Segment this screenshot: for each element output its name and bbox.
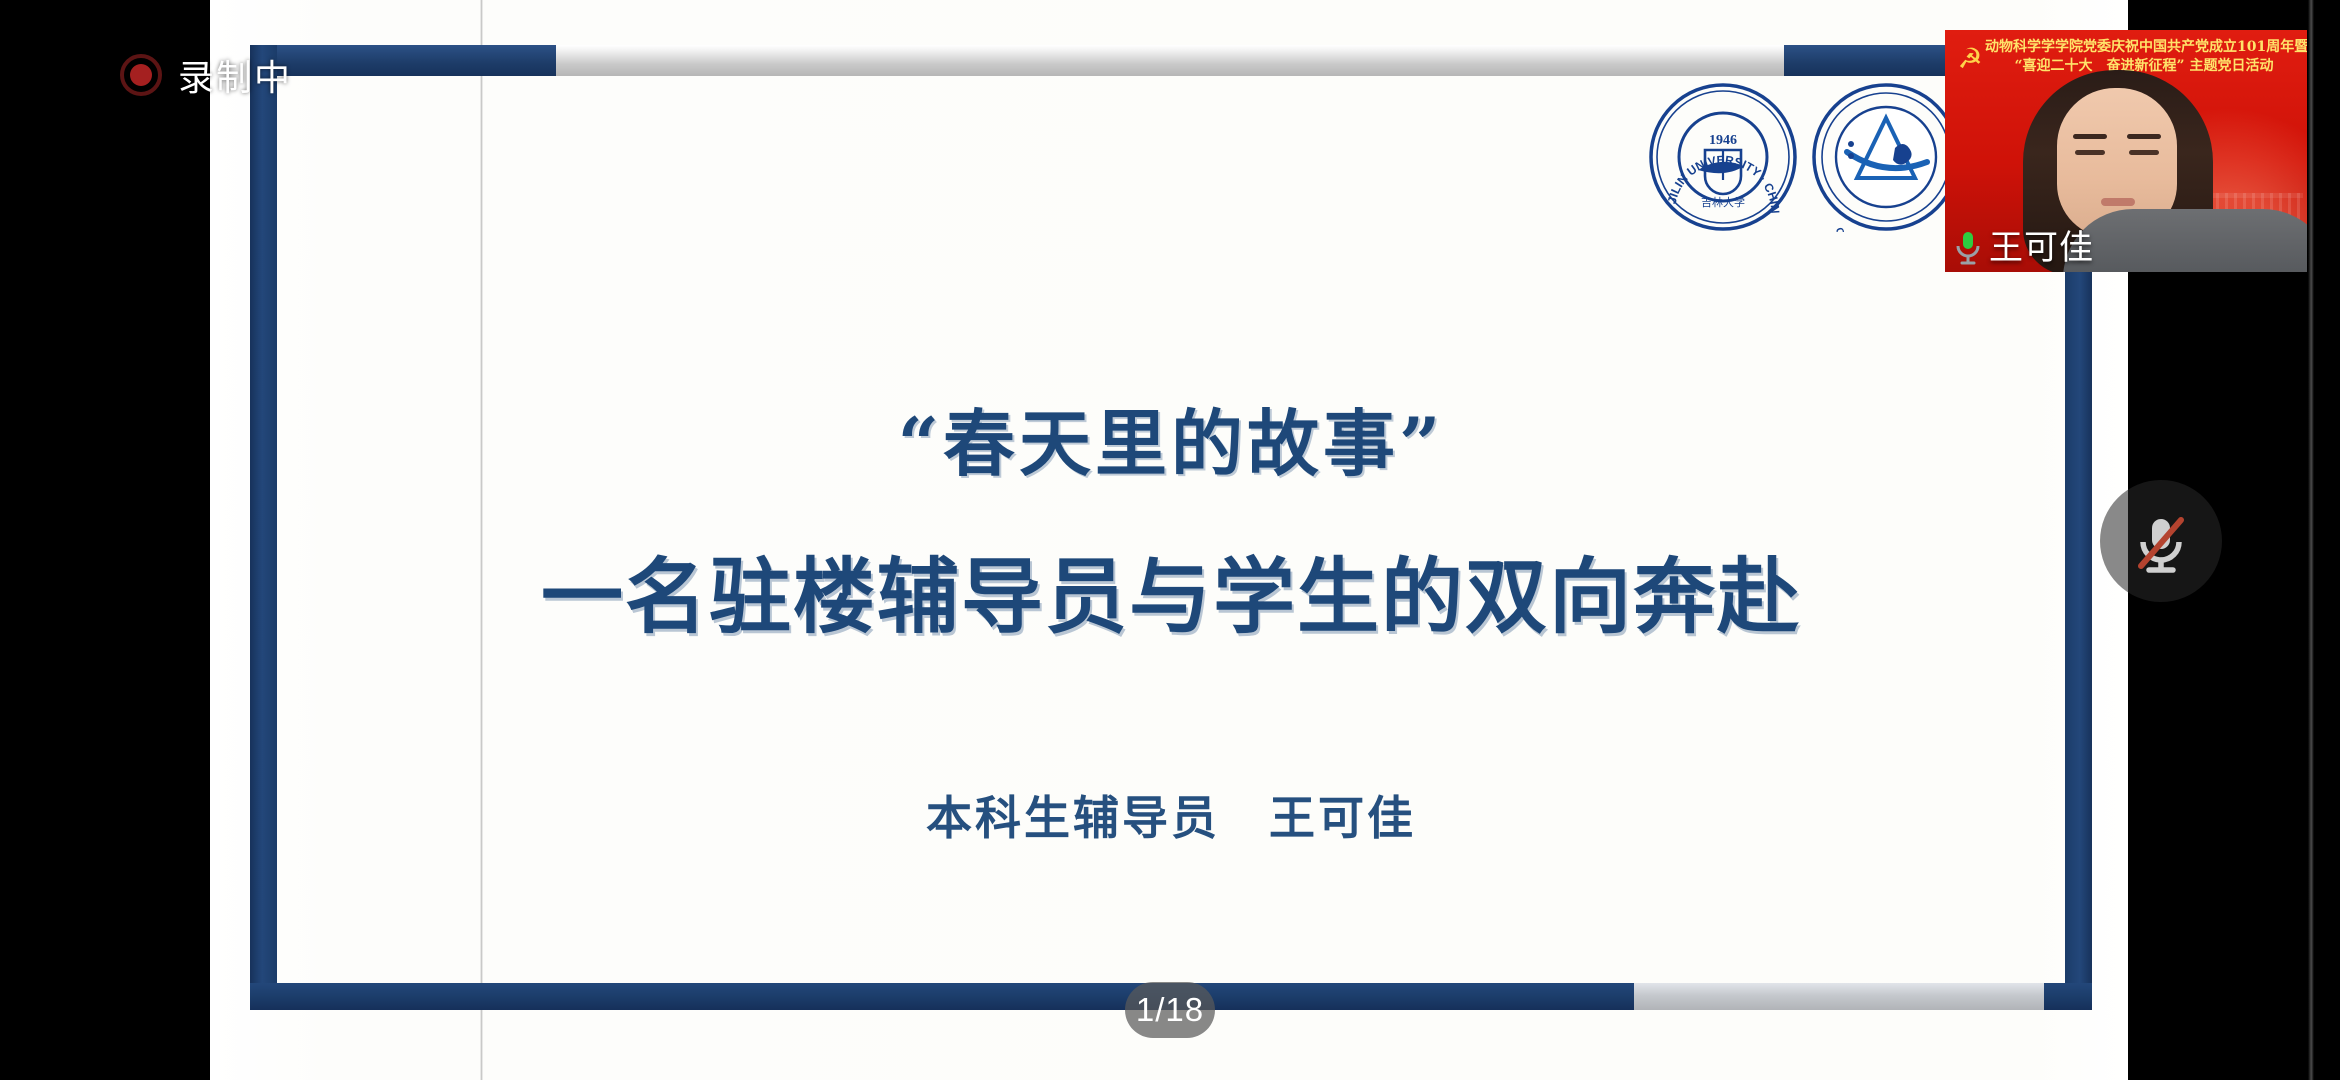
party-emblem-icon: ☭ [1955,44,1985,74]
slide-subtitle: 一名驻楼辅导员与学生的双向奔赴 [277,530,2065,649]
meeting-screen-share-view: JILIN UNIVERSITY · CHINA 1946 吉林大学 COLLE… [0,0,2340,1080]
mute-toggle-button[interactable] [2100,480,2222,602]
slide-logos: JILIN UNIVERSITY · CHINA 1946 吉林大学 COLLE… [1648,82,1968,237]
slide-frame-top-glare [556,45,1786,76]
svg-text:吉林大学: 吉林大学 [1701,195,1745,209]
slide-presenter-line: 本科生辅导员 王可佳 [277,782,2065,848]
slide-frame-left [250,45,277,1010]
portrait-shoulders [2063,209,2307,272]
record-dot-icon [120,54,162,96]
participant-name: 王可佳 [1989,230,2094,266]
page-indicator: 1/18 [1125,982,1215,1038]
banner-line-1: 动物科学学学院党委庆祝中国共产党成立101周年暨 [1985,38,2303,57]
jilin-university-logo: JILIN UNIVERSITY · CHINA 1946 吉林大学 [1648,82,1798,232]
college-of-animal-science-logo: COLLEGE OF ANIMAL [1811,82,1961,232]
microphone-icon [1953,230,1983,266]
microphone-muted-icon [2124,504,2198,578]
slide-frame-top-left [250,45,558,76]
recording-indicator: 录制中 [120,52,292,98]
svg-text:1946: 1946 [1709,133,1737,148]
recording-label: 录制中 [178,49,292,101]
slide-right-sheen [2308,0,2314,1080]
participant-name-badge: 王可佳 [1953,230,2094,266]
slide-title: “春天里的故事” [277,385,2065,490]
slide-frame-bottom-glare [1634,983,2044,1010]
participant-video-tile[interactable]: ☭ 动物科学学学院党委庆祝中国共产党成立101周年暨 “喜迎二十大 奋进新征程”… [1945,30,2307,272]
